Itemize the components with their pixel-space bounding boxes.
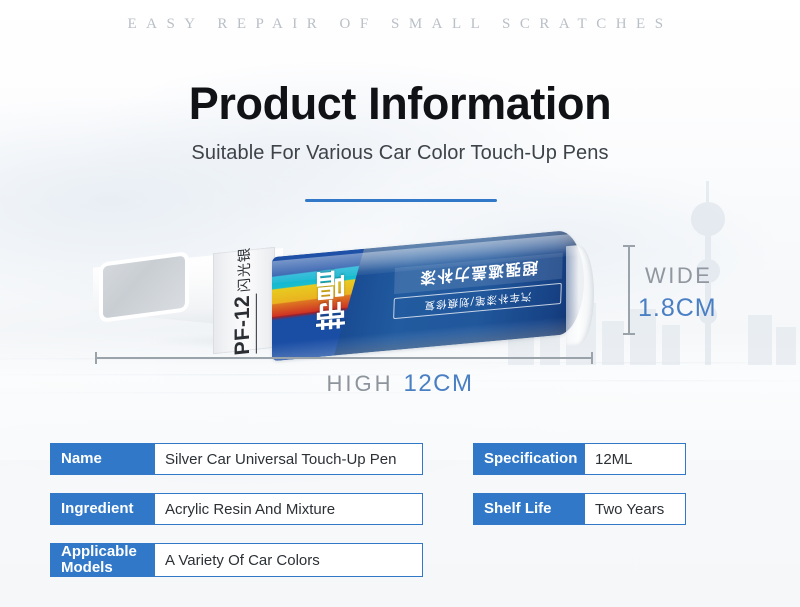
spec-key-line: Specification xyxy=(484,451,577,467)
spec-value-shelf-life: Two Years xyxy=(585,493,686,525)
height-dimension-text: HIGH12CM xyxy=(0,370,800,398)
dimension-bar-horizontal xyxy=(95,357,593,359)
page-title: Product Information xyxy=(0,78,800,130)
page-kicker: EASY REPAIR OF SMALL SCRATCHES xyxy=(0,16,800,33)
pen-brand-mark: 带 唱 xyxy=(314,266,346,328)
spec-value-applicable-models: A Variety Of Car Colors xyxy=(155,543,423,577)
dimension-cap-right xyxy=(591,352,593,364)
width-dimension-value: 1.8CM xyxy=(638,294,717,323)
table-row: Specification 12ML xyxy=(473,443,686,475)
table-row: Ingredient Acrylic Resin And Mixture xyxy=(50,493,423,525)
spec-key-line: Name xyxy=(61,451,102,467)
spec-key-specification: Specification xyxy=(473,443,585,475)
spec-key-line: Ingredient xyxy=(61,501,134,517)
spec-key-ingredient: Ingredient xyxy=(50,493,155,525)
title-divider xyxy=(305,199,497,202)
spec-table-right: Specification 12ML Shelf Life Two Years xyxy=(473,443,686,543)
spec-value-name: Silver Car Universal Touch-Up Pen xyxy=(155,443,423,475)
table-row: Applicable Models A Variety Of Car Color… xyxy=(50,543,423,577)
width-dimension-label: WIDE xyxy=(645,263,712,289)
spec-value-ingredient: Acrylic Resin And Mixture xyxy=(155,493,423,525)
dimension-cap-bottom xyxy=(623,333,635,335)
width-dimension-line xyxy=(623,245,635,335)
spec-key-line: Models xyxy=(61,560,113,576)
page-subtitle: Suitable For Various Car Color Touch-Up … xyxy=(0,142,800,165)
table-row: Shelf Life Two Years xyxy=(473,493,686,525)
spec-key-applicable-models: Applicable Models xyxy=(50,543,155,577)
dimension-bar-vertical xyxy=(628,245,630,335)
height-dimension-line xyxy=(95,352,593,364)
product-information-page: EASY REPAIR OF SMALL SCRATCHES Product I… xyxy=(0,0,800,607)
brand-char-2: 唱 xyxy=(314,266,346,298)
pen-label-band: PF-12 闪光银 xyxy=(213,247,275,355)
pen-end-cap xyxy=(566,244,594,347)
pen-model-code: PF-12 xyxy=(231,293,257,355)
spec-key-name: Name xyxy=(50,443,155,475)
product-image: PF-12 闪光银 带 唱 汽车补漆笔/划痕修复 超强遮盖力补漆 xyxy=(0,215,800,365)
pen-tip-window xyxy=(103,256,185,319)
pen-color-name-cn: 闪光银 xyxy=(234,246,254,293)
spec-table-left: Name Silver Car Universal Touch-Up Pen I… xyxy=(50,443,423,595)
spec-value-specification: 12ML xyxy=(585,443,686,475)
height-dimension-value: 12CM xyxy=(403,370,473,397)
spec-key-line: Shelf Life xyxy=(484,501,552,517)
height-dimension-label: HIGH xyxy=(326,371,393,396)
spec-key-line: Applicable xyxy=(61,544,137,560)
table-row: Name Silver Car Universal Touch-Up Pen xyxy=(50,443,423,475)
spec-key-shelf-life: Shelf Life xyxy=(473,493,585,525)
